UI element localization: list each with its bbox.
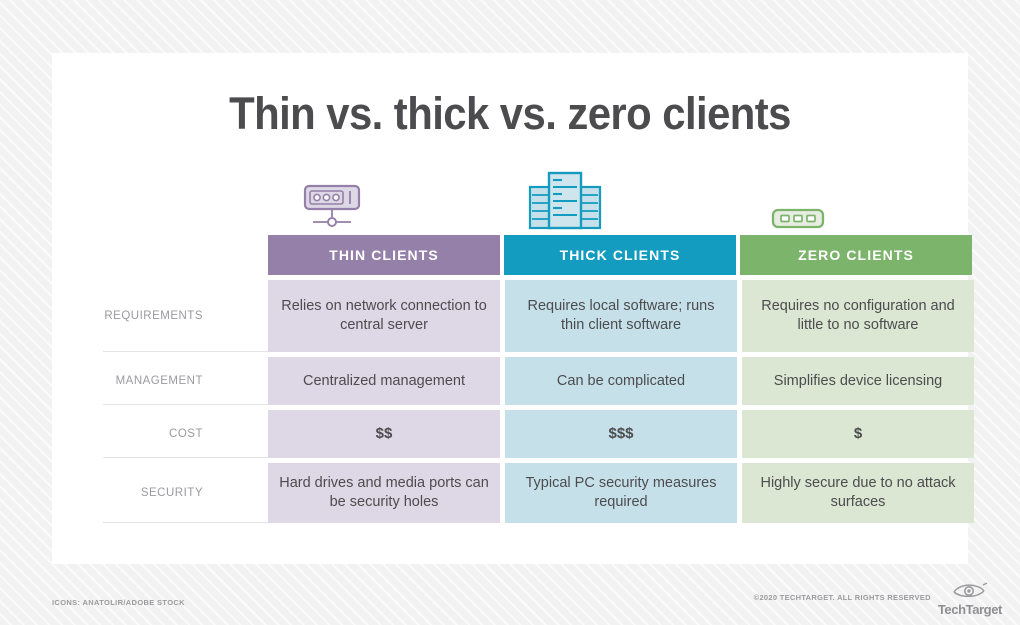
row-label-management: MANAGEMENT [103,357,215,405]
cell-requirements-thick: Requires local software; runs thin clien… [505,280,737,352]
zero-client-device-icon [771,208,825,235]
cell-security-thick: Typical PC security measures required [505,463,737,523]
cell-requirements-zero: Requires no configuration and little to … [742,280,974,352]
cell-management-zero: Simplifies device licensing [742,357,974,405]
column-header-thick: THICK CLIENTS [504,235,736,275]
thin-client-device-icon [301,184,363,235]
footer-branding: ©2020 TECHTARGET. ALL RIGHTS RESERVED Te… [754,581,1002,616]
techtarget-wordmark: TechTarget [938,603,1002,616]
table-row: MANAGEMENT Centralized management Can be… [103,357,961,405]
icon-credit: ICONS: ANATOLIR/ADOBE STOCK [52,598,185,607]
table-row: SECURITY Hard drives and media ports can… [103,463,961,523]
comparison-table: THIN CLIENTS THICK CLIENTS ZERO CLIENTS … [103,235,961,523]
cell-requirements-thin: Relies on network connection to central … [268,280,500,352]
techtarget-logo: TechTarget [938,581,1002,616]
cell-security-zero: Highly secure due to no attack surfaces [742,463,974,523]
header-label-cell [103,235,215,275]
cell-cost-zero: $ [742,410,974,458]
column-header-thin: THIN CLIENTS [268,235,500,275]
cell-security-thin: Hard drives and media ports can be secur… [268,463,500,523]
cell-cost-thin: $$ [268,410,500,458]
cell-cost-thick: $$$ [505,410,737,458]
table-row: REQUIREMENTS Relies on network connectio… [103,280,961,352]
server-rack-icon [528,170,602,235]
thin-client-icon-cell [216,173,448,235]
zero-client-icon-cell [682,173,914,235]
eye-icon [951,581,989,602]
column-header-zero: ZERO CLIENTS [740,235,972,275]
row-spacer [215,463,268,523]
header-spacer [215,235,268,275]
row-label-requirements: REQUIREMENTS [103,280,215,352]
row-label-security: SECURITY [103,463,215,523]
page-title: Thin vs. thick vs. zero clients [84,88,936,140]
row-spacer [215,357,268,405]
table-header-row: THIN CLIENTS THICK CLIENTS ZERO CLIENTS [103,235,961,275]
thick-client-icon-cell [449,173,681,235]
row-spacer [215,280,268,352]
row-label-cost: COST [103,410,215,458]
table-row: COST $$ $$$ $ [103,410,961,458]
cell-management-thin: Centralized management [268,357,500,405]
cell-management-thick: Can be complicated [505,357,737,405]
row-spacer [215,410,268,458]
infographic-card: Thin vs. thick vs. zero clients [52,53,968,564]
icon-row [216,173,910,235]
copyright-text: ©2020 TECHTARGET. ALL RIGHTS RESERVED [754,593,931,604]
